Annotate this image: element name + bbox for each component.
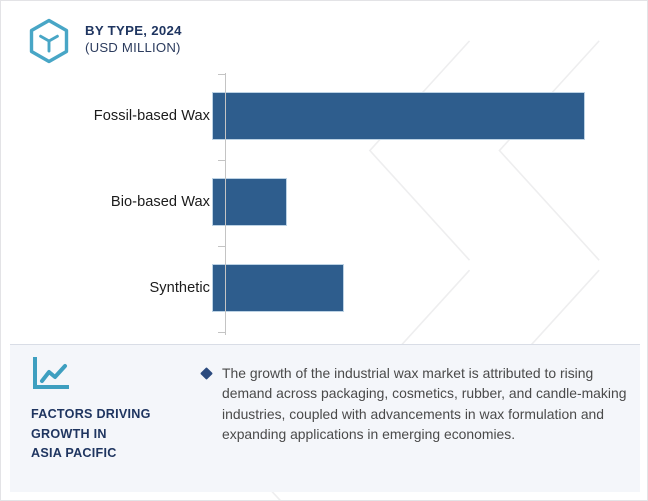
bar-bio-based-wax xyxy=(212,178,287,226)
page-subtitle: (USD MILLION) xyxy=(85,39,182,56)
axis-tick xyxy=(218,246,226,247)
category-label-synthetic: Synthetic xyxy=(1,280,212,296)
footer-bullet-text: The growth of the industrial wax market … xyxy=(222,363,627,445)
footer-heading-line-2: GROWTH IN xyxy=(31,425,191,445)
footer-heading-line-3: ASIA PACIFIC xyxy=(31,444,191,464)
card-header: BY TYPE, 2024 (USD MILLION) xyxy=(27,17,182,64)
footer-bullet-list: The growth of the industrial wax market … xyxy=(202,363,627,445)
line-chart-icon xyxy=(31,357,69,391)
footer-heading-block: FACTORS DRIVING GROWTH IN ASIA PACIFIC xyxy=(31,357,191,464)
bar-track xyxy=(212,73,648,159)
chart-row: Synthetic xyxy=(1,245,648,331)
axis-tick xyxy=(218,160,226,161)
bar-track xyxy=(212,159,648,245)
infographic-card: BY TYPE, 2024 (USD MILLION) Fossil-based… xyxy=(0,0,648,501)
chart-row: Fossil-based Wax xyxy=(1,73,648,159)
axis-tick xyxy=(218,332,226,333)
category-label-bio-based-wax: Bio-based Wax xyxy=(1,194,212,210)
bar-chart: Fossil-based Wax Bio-based Wax Synthetic xyxy=(1,73,648,335)
footer-panel: FACTORS DRIVING GROWTH IN ASIA PACIFIC T… xyxy=(10,345,640,492)
footer-heading-line-1: FACTORS DRIVING xyxy=(31,405,191,425)
footer-heading: FACTORS DRIVING GROWTH IN ASIA PACIFIC xyxy=(31,405,191,464)
hexagon-y-icon xyxy=(27,18,71,64)
page-title: BY TYPE, 2024 xyxy=(85,22,182,39)
category-axis-line xyxy=(225,73,226,335)
bar-synthetic xyxy=(212,264,344,312)
category-label-fossil-based-wax: Fossil-based Wax xyxy=(1,108,212,124)
header-title-block: BY TYPE, 2024 (USD MILLION) xyxy=(85,17,182,57)
bar-track xyxy=(212,245,648,331)
axis-tick xyxy=(218,74,226,75)
bar-fossil-based-wax xyxy=(212,92,585,140)
chart-row: Bio-based Wax xyxy=(1,159,648,245)
diamond-bullet-icon xyxy=(200,367,213,380)
